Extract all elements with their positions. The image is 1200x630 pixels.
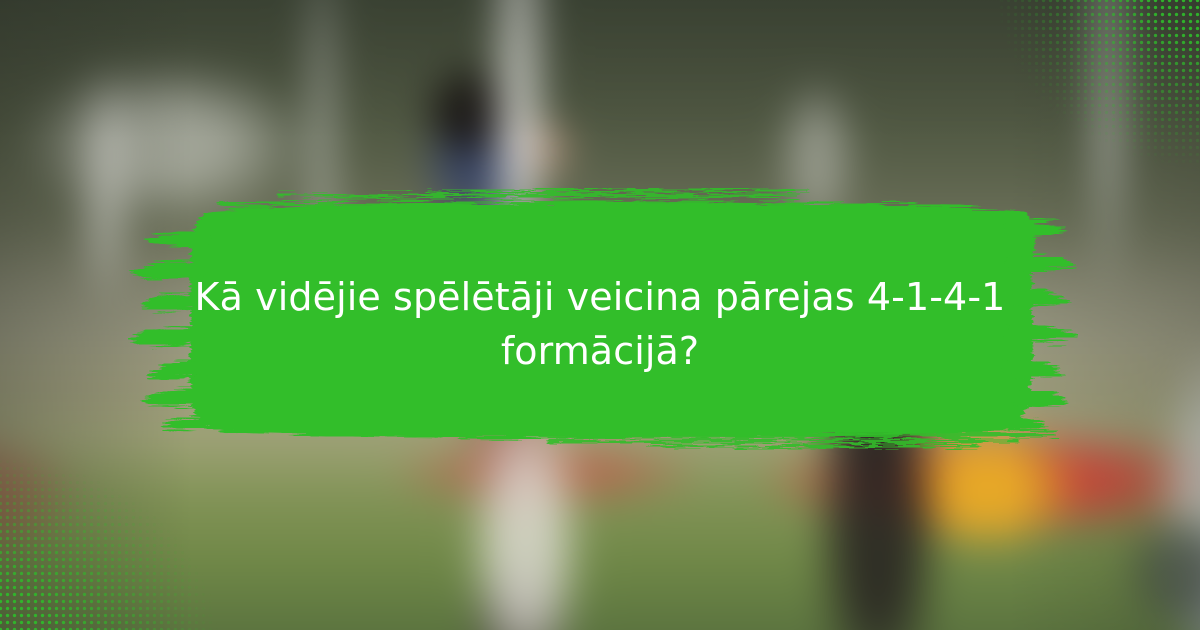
social-card: Kā vidējie spēlētāji veicina pārejas 4-1…: [0, 0, 1200, 630]
page-title: Kā vidējie spēlētāji veicina pārejas 4-1…: [190, 270, 1010, 379]
